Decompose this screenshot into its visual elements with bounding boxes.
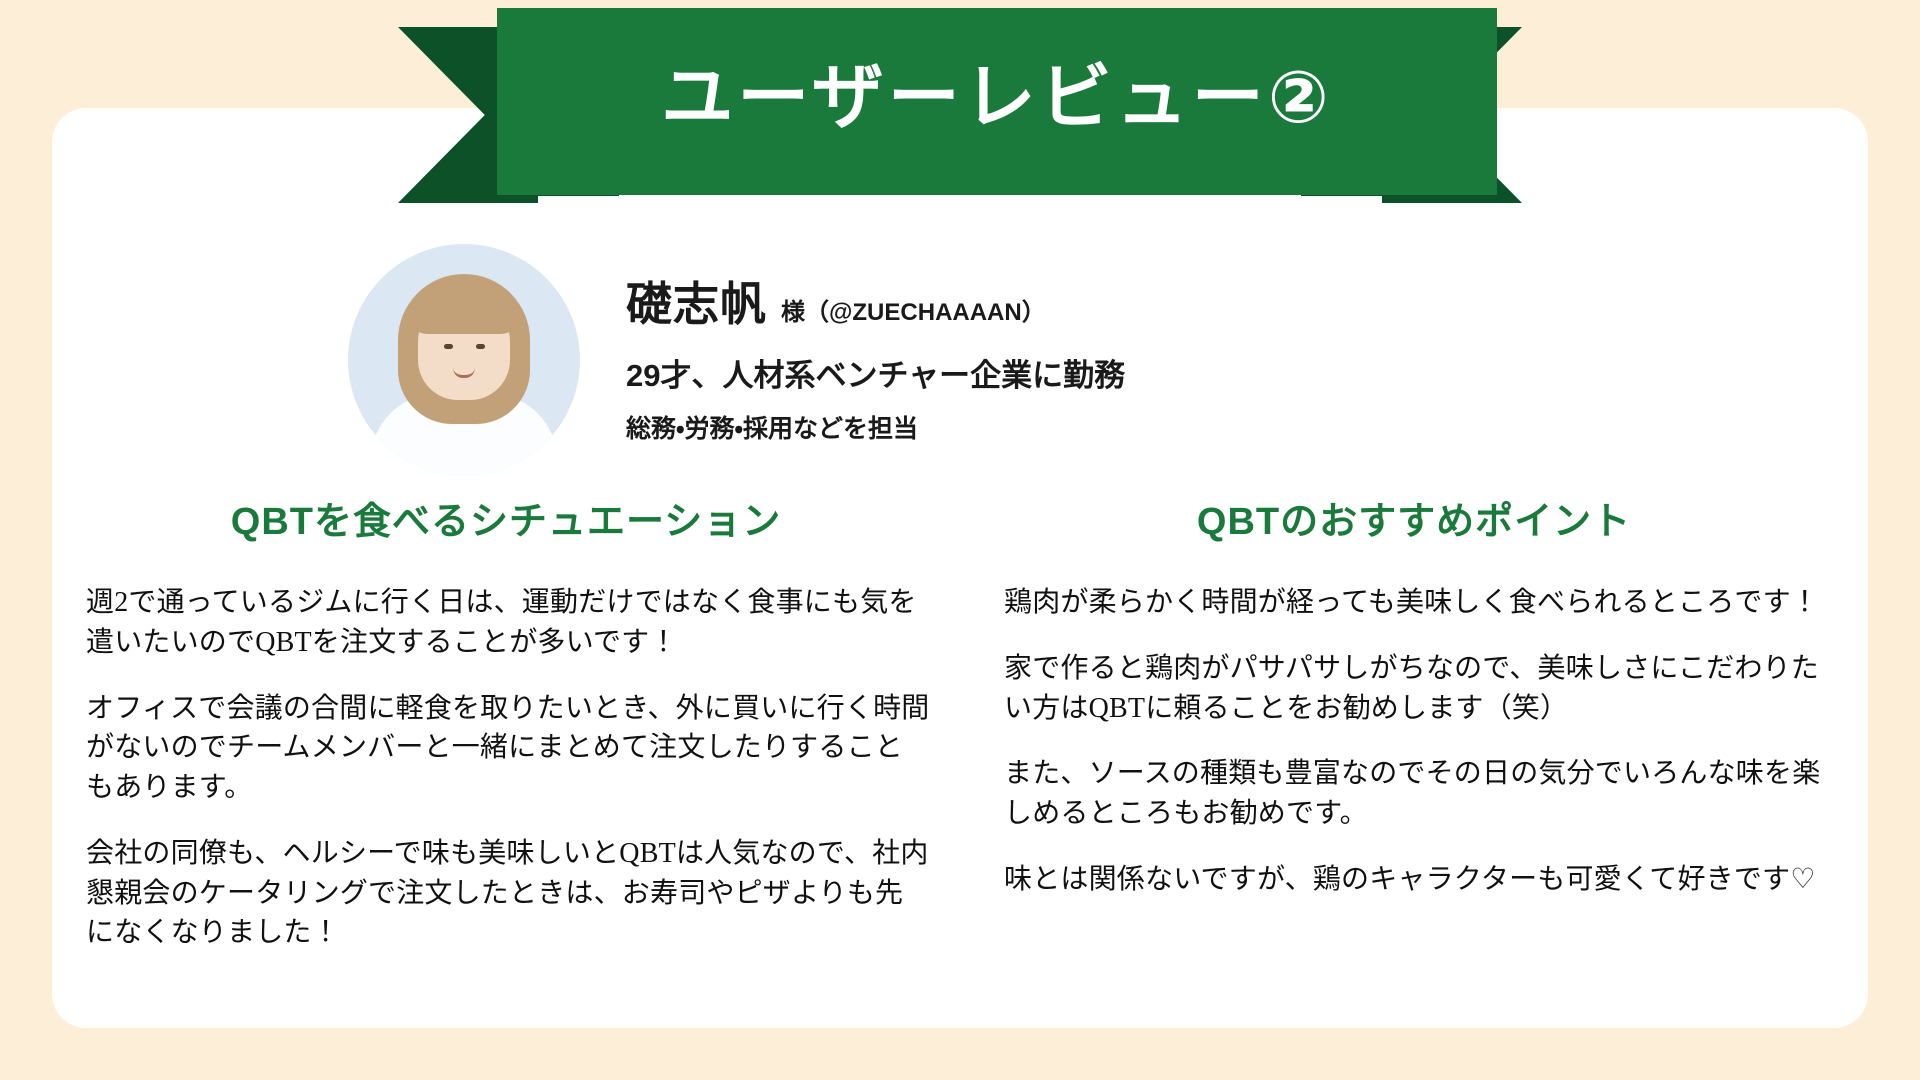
reviewer-details: 礎志帆 様（@ZUECHAAAAN） 29才、人材系ベンチャー企業に勤務 総務・…: [626, 244, 1125, 445]
paragraph: また、ソースの種類も豊富なのでその日の気分でいろんな味を楽しめるところもお勧めで…: [1004, 754, 1844, 834]
reviewer-name-row: 礎志帆 様（@ZUECHAAAAN）: [626, 268, 1125, 334]
avatar: [348, 244, 580, 476]
review-columns: QBTを食べるシチュエーション 週2で通っているジムに行く日は、運動だけではなく…: [52, 490, 1868, 953]
column-recommend: QBTのおすすめポイント 鶏肉が柔らかく時間が経っても美味しく食べられるところで…: [960, 490, 1868, 953]
paragraph: 会社の同僚も、ヘルシーで味も美味しいとQBTは人気なので、社内懇親会のケータリン…: [86, 834, 930, 953]
paragraph: 味とは関係ないですが、鶏のキャラクターも可愛くて好きです♡: [1004, 860, 1844, 900]
paragraph: 家で作ると鶏肉がパサパサしがちなので、美味しさにこだわりたい方はQBTに頼ること…: [1004, 649, 1844, 729]
reviewer-name: 礎志帆: [626, 268, 767, 334]
column-heading-recommend: QBTのおすすめポイント: [960, 490, 1868, 545]
avatar-eye-right: [476, 344, 485, 349]
reviewer-handle: 様（@ZUECHAAAAN）: [781, 292, 1046, 327]
reviewer-job: 29才、人材系ベンチャー企業に勤務: [626, 350, 1125, 395]
column-body-recommend: 鶏肉が柔らかく時間が経っても美味しく食べられるところです！ 家で作ると鶏肉がパサ…: [960, 583, 1868, 900]
column-heading-situation: QBTを食べるシチュエーション: [52, 490, 960, 545]
avatar-eye-left: [444, 344, 453, 349]
column-situation: QBTを食べるシチュエーション 週2で通っているジムに行く日は、運動だけではなく…: [52, 490, 960, 953]
paragraph: オフィスで会議の合間に軽食を取りたいとき、外に買いに行く時間がないのでチームメン…: [86, 689, 930, 808]
paragraph: 週2で通っているジムに行く日は、運動だけではなく食事にも気を遣いたいのでQBTを…: [86, 583, 930, 663]
reviewer-duty: 総務・労務・採用などを担当: [626, 409, 1125, 445]
column-body-situation: 週2で通っているジムに行く日は、運動だけではなく食事にも気を遣いたいのでQBTを…: [52, 583, 960, 953]
paragraph: 鶏肉が柔らかく時間が経っても美味しく食べられるところです！: [1004, 583, 1844, 623]
reviewer-profile: 礎志帆 様（@ZUECHAAAAN） 29才、人材系ベンチャー企業に勤務 総務・…: [348, 244, 1125, 476]
avatar-fringe-shape: [408, 288, 520, 334]
